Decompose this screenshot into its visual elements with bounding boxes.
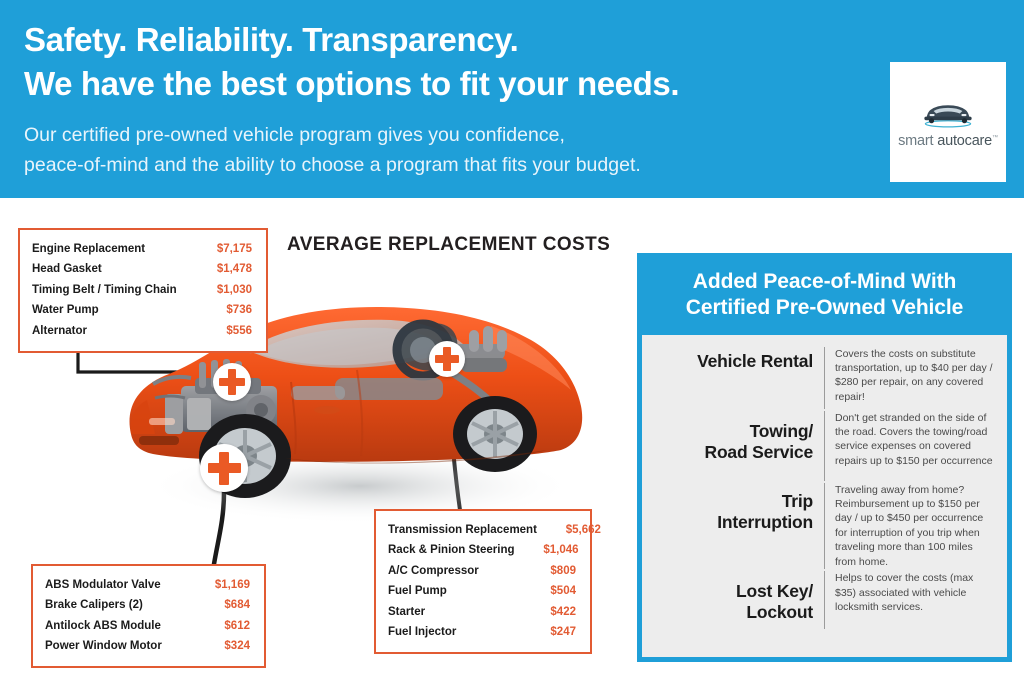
table-row: Engine Replacement $7,175 [32,239,252,260]
cost-value: $5,662 [547,525,601,537]
table-row: Transmission Replacement $5,662 [388,520,576,541]
cost-value: $1,030 [198,285,252,297]
cost-value: $1,169 [196,580,250,592]
headline-line-2: We have the best options to fit your nee… [24,62,884,106]
cost-table-brakes: ABS Modulator Valve $1,169 Brake Caliper… [31,564,266,668]
cost-label: Head Gasket [32,264,198,276]
logo-word-smart: smart [898,133,937,149]
hotspot-marker-drivetrain[interactable] [429,341,465,377]
benefit-title-line-2: Interruption [656,512,813,533]
benefit-description: Helps to cover the costs (max $35) assoc… [824,571,995,629]
infographic-page: Safety. Reliability. Transparency. We ha… [0,0,1024,685]
benefit-title: Vehicle Rental [656,347,824,372]
cost-label: Timing Belt / Timing Chain [32,285,198,297]
cost-label: Fuel Pump [388,586,522,598]
cost-label: Antilock ABS Module [45,621,196,633]
cost-label: A/C Compressor [388,566,522,578]
table-row: Water Pump $736 [32,301,252,322]
cost-label: Fuel Injector [388,627,522,639]
table-row: Fuel Injector $247 [388,623,576,644]
cost-label: ABS Modulator Valve [45,580,196,592]
benefits-heading-line-1: Added Peace-of-Mind With [648,269,1001,295]
page-subtitle: Our certified pre-owned vehicle program … [24,120,854,180]
benefits-heading-line-2: Certified Pre-Owned Vehicle [648,295,1001,321]
plus-icon-vertical [228,369,236,395]
section-title: AVERAGE REPLACEMENT COSTS [287,234,610,256]
subhead-line-2: peace-of-mind and the ability to choose … [24,150,854,180]
cost-table-drivetrain: Transmission Replacement $5,662 Rack & P… [374,509,592,654]
table-row: Timing Belt / Timing Chain $1,030 [32,280,252,301]
header-banner: Safety. Reliability. Transparency. We ha… [0,0,1024,198]
car-icon [917,95,979,131]
benefit-description: Traveling away from home? Reimbursement … [824,483,995,570]
table-row: Head Gasket $1,478 [32,260,252,281]
cost-label: Power Window Motor [45,641,196,653]
table-row: ABS Modulator Valve $1,169 [45,575,250,596]
benefits-panel-heading: Added Peace-of-Mind With Certified Pre-O… [642,258,1007,335]
logo-wordmark: smart autocare™ [898,133,998,149]
cost-value: $684 [196,600,250,612]
benefit-item-trip-interruption: Trip Interruption Traveling away from ho… [656,483,995,570]
plus-icon-vertical [443,347,451,371]
cost-value: $556 [198,326,252,338]
cost-value: $1,046 [525,545,579,557]
benefit-description: Covers the costs on substitute transport… [824,347,995,409]
cost-label: Engine Replacement [32,244,198,256]
hotspot-marker-engine[interactable] [213,363,251,401]
benefit-title-line-1: Vehicle Rental [656,351,813,372]
cost-label: Alternator [32,326,198,338]
benefit-item-towing-road-service: Towing/ Road Service Don't get stranded … [656,411,995,481]
cost-label: Rack & Pinion Steering [388,545,525,557]
table-row: Power Window Motor $324 [45,637,250,658]
plus-icon-vertical [219,452,229,485]
cost-label: Starter [388,607,522,619]
benefit-description: Don't get stranded on the side of the ro… [824,411,995,481]
benefit-title-line-2: Road Service [656,442,813,463]
benefits-list: Vehicle Rental Covers the costs on subst… [642,335,1007,642]
logo-word-autocare: autocare [937,133,992,149]
table-row: Antilock ABS Module $612 [45,616,250,637]
cost-value: $324 [196,641,250,653]
benefit-title-line-1: Towing/ [656,421,813,442]
benefit-title: Towing/ Road Service [656,411,824,463]
benefit-title-line-1: Trip [656,491,813,512]
headline-line-1: Safety. Reliability. Transparency. [24,21,518,58]
table-row: Alternator $556 [32,321,252,342]
brand-logo: smart autocare™ [890,62,1006,182]
table-row: Starter $422 [388,602,576,623]
cost-value: $736 [198,305,252,317]
cost-label: Brake Calipers (2) [45,600,196,612]
cost-value: $247 [522,627,576,639]
cost-value: $7,175 [198,244,252,256]
benefits-panel: Added Peace-of-Mind With Certified Pre-O… [637,253,1012,662]
benefit-item-lost-key-lockout: Lost Key/ Lockout Helps to cover the cos… [656,571,995,629]
cost-label: Water Pump [32,305,198,317]
cost-label: Transmission Replacement [388,525,547,537]
benefit-item-vehicle-rental: Vehicle Rental Covers the costs on subst… [656,347,995,409]
table-row: A/C Compressor $809 [388,561,576,582]
cost-value: $612 [196,621,250,633]
page-title: Safety. Reliability. Transparency. We ha… [24,18,884,105]
table-row: Rack & Pinion Steering $1,046 [388,541,576,562]
benefit-title-line-1: Lost Key/ [656,581,813,602]
hotspot-marker-brakes[interactable] [200,444,248,492]
cost-table-engine: Engine Replacement $7,175 Head Gasket $1… [18,228,268,353]
cost-value: $809 [522,566,576,578]
benefit-title-line-2: Lockout [656,602,813,623]
cost-value: $1,478 [198,264,252,276]
benefit-title: Lost Key/ Lockout [656,571,824,623]
cost-value: $504 [522,586,576,598]
cost-value: $422 [522,607,576,619]
table-row: Brake Calipers (2) $684 [45,596,250,617]
benefit-title: Trip Interruption [656,483,824,533]
subhead-line-1: Our certified pre-owned vehicle program … [24,120,854,150]
trademark-symbol: ™ [992,135,998,141]
table-row: Fuel Pump $504 [388,582,576,603]
